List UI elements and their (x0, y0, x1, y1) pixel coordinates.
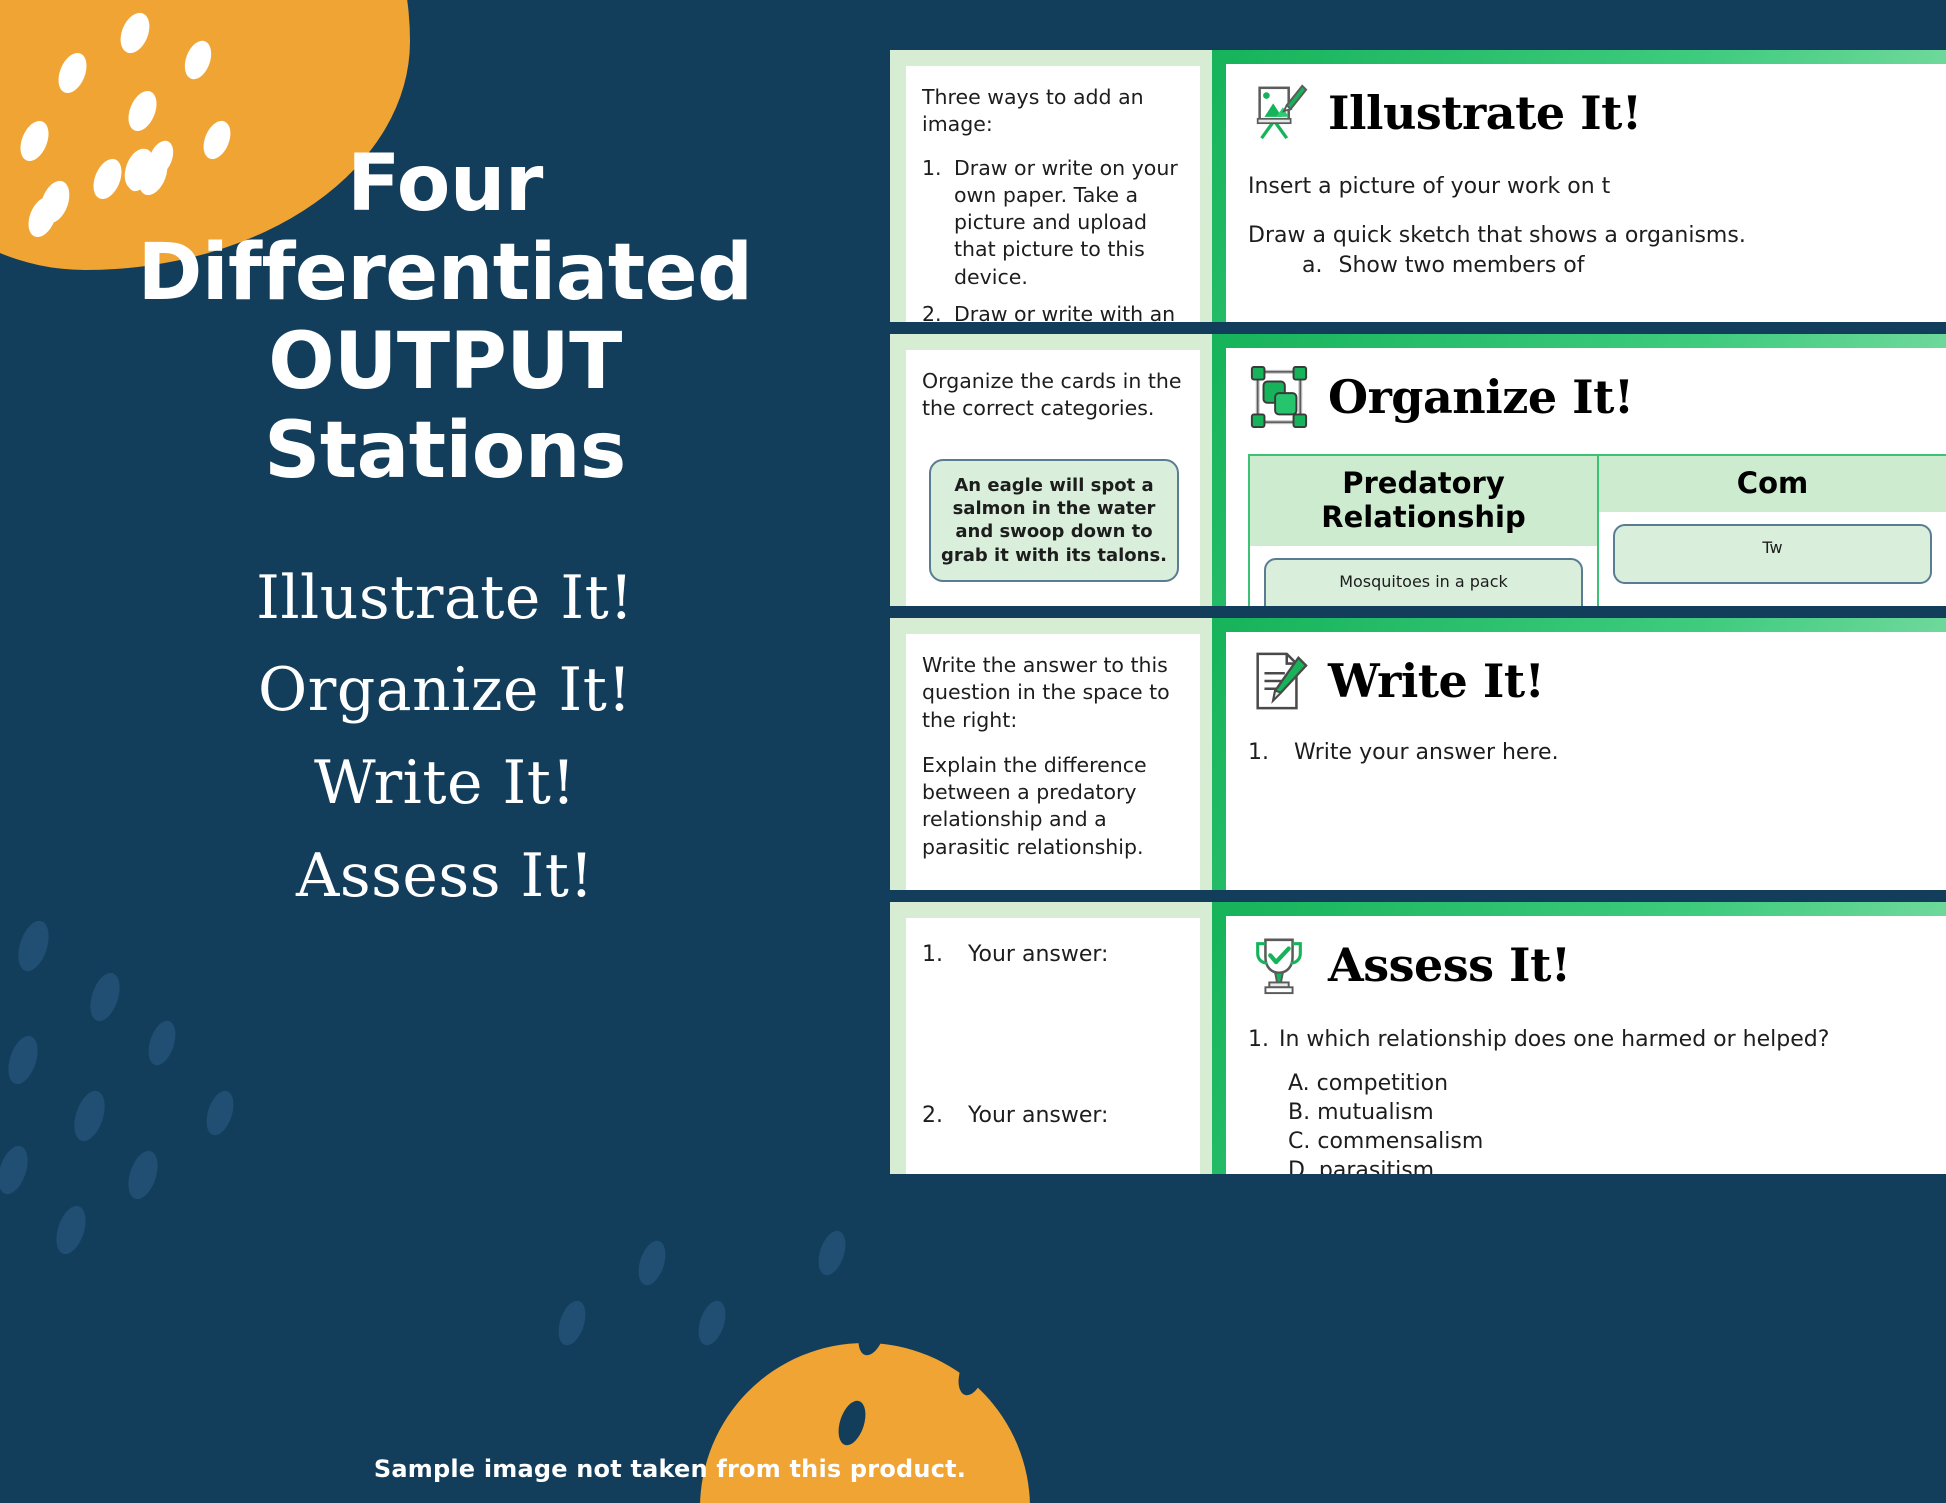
slide-assess-left-panel: 1. Your answer: 2. Your answer: (890, 902, 1212, 1174)
organize-heading: Organize It! (1248, 366, 1946, 428)
slide-organize[interactable]: Organize the cards in the the correct ca… (890, 334, 1946, 606)
assess-choices: A. competition B. mutualism C. commensal… (1288, 1069, 1946, 1174)
assess-body: 1. In which relationship does one harmed… (1248, 1026, 1946, 1174)
sort-card[interactable]: An eagle will spot a salmon in the water… (929, 459, 1179, 583)
slide-preview-strip: Three ways to add an image: 1. Draw or w… (890, 0, 1946, 1503)
organize-title: Organize It! (1328, 370, 1634, 424)
illustrate-paragraph: Insert a picture of your work on t (1248, 172, 1946, 201)
step-number: 2. (922, 301, 944, 322)
headline-line: OUTPUT (55, 318, 835, 407)
station-item-organize: Organize It! (258, 652, 632, 729)
station-item-assess: Assess It! (296, 838, 594, 915)
answer-text: Write your answer here. (1294, 740, 1559, 765)
slide-illustrate-left-panel: Three ways to add an image: 1. Draw or w… (890, 50, 1212, 322)
answer-number: 1. (1248, 740, 1268, 765)
slide-write-left-panel: Write the answer to this question in the… (890, 618, 1212, 890)
table-cell: Mosquitoes in a pack (1250, 546, 1597, 606)
sample-disclaimer: Sample image not taken from this product… (0, 1455, 1340, 1483)
write-question: Explain the difference between a predato… (922, 752, 1186, 861)
illustrate-body: Insert a picture of your work on t Draw … (1248, 172, 1946, 278)
sub-item-label: a. (1302, 253, 1322, 278)
easel-paintbrush-icon (1248, 82, 1310, 144)
headline-line: Four (55, 140, 835, 229)
slide-organize-right-panel: Organize It! Predatory Relationship Mosq… (1212, 334, 1946, 606)
answer-text: Your answer: (968, 942, 1108, 967)
slide-assess[interactable]: 1. Your answer: 2. Your answer: (890, 902, 1946, 1174)
list-item: 1. Draw or write on your own paper. Take… (922, 155, 1186, 291)
illustrate-intro: Three ways to add an image: (922, 84, 1186, 139)
choice-b[interactable]: B. mutualism (1288, 1098, 1946, 1127)
group-objects-icon (1248, 366, 1310, 428)
step-text: Draw or write on your own paper. Take a … (954, 155, 1186, 291)
slide-organize-left-panel: Organize the cards in the the correct ca… (890, 334, 1212, 606)
table-cell: Tw (1599, 512, 1946, 584)
column-header: Com (1599, 456, 1946, 512)
table-column: Predatory Relationship Mosquitoes in a p… (1250, 456, 1599, 606)
assess-heading: Assess It! (1248, 934, 1946, 996)
step-number: 1. (922, 155, 944, 291)
hero-column: Four Differentiated OUTPUT Stations Illu… (0, 0, 890, 1503)
trophy-check-icon (1248, 934, 1310, 996)
answer-text: Your answer: (968, 1103, 1108, 1128)
table-column: Com Tw (1599, 456, 1946, 606)
answer-number: 2. (922, 1103, 942, 1128)
illustrate-sub-item: a. Show two members of (1302, 253, 1946, 278)
step-text: Draw or write with an online app. Take a… (954, 301, 1186, 322)
answer-number: 1. (922, 942, 942, 967)
list-item: 2. Draw or write with an online app. Tak… (922, 301, 1186, 322)
choice-d[interactable]: D. parasitism (1288, 1156, 1946, 1174)
answer-line[interactable]: 1. Your answer: (922, 942, 1186, 967)
document-pencil-icon (1248, 650, 1310, 712)
choice-c[interactable]: C. commensalism (1288, 1127, 1946, 1156)
headline-line: Stations (55, 407, 835, 496)
page-title: Four Differentiated OUTPUT Stations (55, 140, 835, 496)
slide-illustrate[interactable]: Three ways to add an image: 1. Draw or w… (890, 50, 1946, 322)
choice-a[interactable]: A. competition (1288, 1069, 1946, 1098)
assess-title: Assess It! (1328, 938, 1571, 992)
illustrate-title: Illustrate It! (1328, 86, 1642, 140)
illustrate-paragraph: Draw a quick sketch that shows a organis… (1248, 221, 1946, 250)
write-heading: Write It! (1248, 650, 1946, 712)
headline-line: Differentiated (55, 229, 835, 318)
slide-write[interactable]: Write the answer to this question in the… (890, 618, 1946, 890)
station-item-illustrate: Illustrate It! (256, 560, 634, 637)
write-body: 1. Write your answer here. (1248, 740, 1946, 765)
answer-line[interactable]: 1. Write your answer here. (1248, 740, 1946, 765)
organize-table: Predatory Relationship Mosquitoes in a p… (1248, 454, 1946, 606)
slide-illustrate-right-panel: Illustrate It! Insert a picture of your … (1212, 50, 1946, 322)
sub-item-text: Show two members of (1338, 253, 1584, 278)
mini-card[interactable]: Mosquitoes in a pack (1264, 558, 1583, 606)
slide-write-right-panel: Write It! 1. Write your answer here. (1212, 618, 1946, 890)
slide-assess-right-panel: Assess It! 1. In which relationship does… (1212, 902, 1946, 1174)
column-header: Predatory Relationship (1250, 456, 1597, 546)
write-title: Write It! (1328, 654, 1544, 708)
question-number: 1. (1248, 1026, 1269, 1055)
mini-card[interactable]: Tw (1613, 524, 1932, 584)
station-item-write: Write It! (314, 745, 576, 822)
station-list: Illustrate It! Organize It! Write It! As… (256, 560, 634, 915)
assess-question: 1. In which relationship does one harmed… (1248, 1026, 1946, 1055)
illustrate-steps: 1. Draw or write on your own paper. Take… (922, 155, 1186, 323)
question-text: In which relationship does one harmed or… (1279, 1026, 1829, 1055)
illustrate-heading: Illustrate It! (1248, 82, 1946, 144)
organize-intro: Organize the cards in the the correct ca… (922, 368, 1186, 423)
write-intro: Write the answer to this question in the… (922, 652, 1186, 734)
answer-line[interactable]: 2. Your answer: (922, 1103, 1186, 1128)
